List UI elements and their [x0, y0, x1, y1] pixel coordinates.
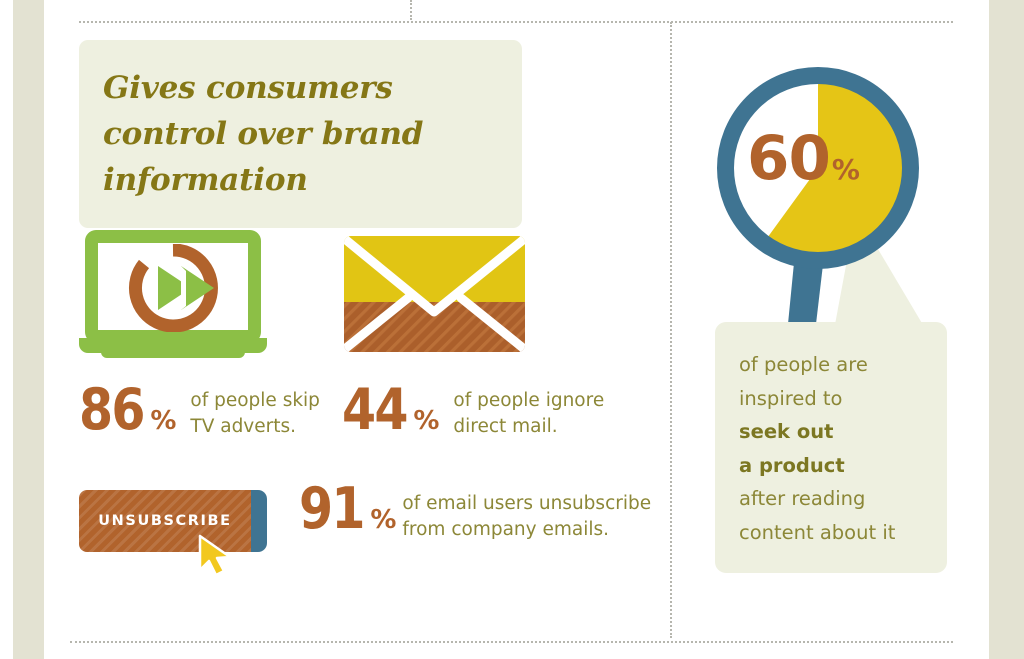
stat-percent-unsubscribe: % — [370, 505, 396, 535]
stat-number-tv: 86 — [79, 385, 144, 436]
headline-box: Gives consumers control over brand infor… — [79, 40, 522, 228]
stat-figures-tv: 86 % of people skip TV adverts. — [79, 385, 320, 441]
tv-skip-icon — [79, 230, 267, 360]
mouse-cursor-icon — [197, 534, 239, 578]
callout-line-5: after reading — [739, 482, 923, 516]
infographic-page: Gives consumers control over brand infor… — [0, 0, 1024, 659]
right-panel: 60 % of people are inspired to seek out … — [690, 40, 960, 620]
bottom-dotted-rule — [70, 641, 953, 643]
envelope-glyph — [342, 230, 527, 357]
stat-number-mail: 44 — [342, 385, 407, 436]
unsubscribe-button-label: UNSUBSCRIBE — [98, 513, 231, 529]
stat-block-tv — [79, 230, 267, 360]
callout-line-1: of people are — [739, 348, 923, 382]
callout-line-2: inspired to — [739, 382, 923, 416]
left-panel: Gives consumers control over brand infor… — [79, 40, 654, 228]
magnifying-glass-icon — [710, 62, 950, 352]
callout-line-6: content about it — [739, 516, 923, 550]
top-dotted-rule — [79, 21, 953, 23]
stat-block-unsubscribe: UNSUBSCRIBE 91 % of email users unsubscr… — [79, 490, 651, 552]
stat-number-unsubscribe: 91 — [299, 484, 364, 535]
stat-percent-tv: % — [150, 406, 176, 436]
left-margin-band — [13, 0, 44, 659]
callout-line-3: seek out — [739, 415, 923, 449]
stat-text-mail: of people ignore direct mail. — [453, 385, 604, 441]
right-margin-band — [989, 0, 1024, 659]
unsubscribe-button-icon[interactable]: UNSUBSCRIBE — [79, 490, 267, 552]
skip-play-glyph — [123, 244, 223, 332]
stat-block-mail — [342, 230, 527, 357]
top-dotted-stub — [410, 0, 412, 20]
callout-line-4: a product — [739, 449, 923, 483]
stat-percent-mail: % — [413, 406, 439, 436]
envelope-icon — [342, 230, 527, 357]
vertical-dotted-divider — [670, 22, 672, 638]
stat-text-unsubscribe: of email users unsubscribe from company … — [402, 488, 651, 544]
callout-box: of people are inspired to seek out a pro… — [715, 322, 947, 573]
page-title: Gives consumers control over brand infor… — [103, 66, 496, 204]
stat-figures-mail: 44 % of people ignore direct mail. — [342, 385, 604, 441]
stat-text-tv: of people skip TV adverts. — [190, 385, 320, 441]
